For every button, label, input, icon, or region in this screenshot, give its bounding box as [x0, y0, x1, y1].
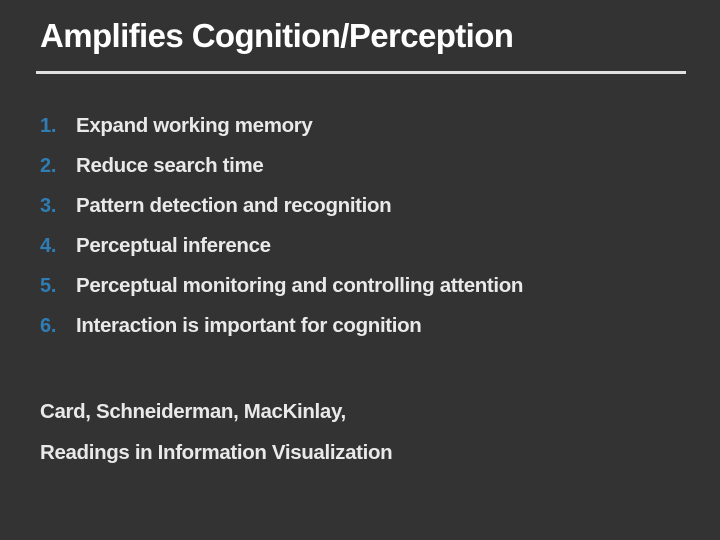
- list-item-label: Reduce search time: [76, 146, 263, 186]
- list-item: 3. Pattern detection and recognition: [40, 186, 700, 226]
- citation-block: Card, Schneiderman, MacKinlay, Readings …: [40, 391, 700, 473]
- list-item-number: 5.: [40, 266, 76, 306]
- title-divider: [36, 71, 686, 74]
- list-item-number: 1.: [40, 106, 76, 146]
- list-item-label: Interaction is important for cognition: [76, 306, 421, 346]
- list-item: 6. Interaction is important for cognitio…: [40, 306, 700, 346]
- list-item-number: 3.: [40, 186, 76, 226]
- citation-authors: Card, Schneiderman, MacKinlay,: [40, 391, 700, 432]
- numbered-list: 1. Expand working memory 2. Reduce searc…: [40, 106, 700, 346]
- list-item: 2. Reduce search time: [40, 146, 700, 186]
- list-item-number: 4.: [40, 226, 76, 266]
- list-item: 5. Perceptual monitoring and controlling…: [40, 266, 700, 306]
- list-item-label: Pattern detection and recognition: [76, 186, 391, 226]
- list-item-label: Expand working memory: [76, 106, 312, 146]
- citation-title: Readings in Information Visualization: [40, 432, 700, 473]
- list-item-label: Perceptual inference: [76, 226, 271, 266]
- list-item-number: 6.: [40, 306, 76, 346]
- slide-canvas: Amplifies Cognition/Perception 1. Expand…: [0, 0, 720, 540]
- list-item: 1. Expand working memory: [40, 106, 700, 146]
- list-item-label: Perceptual monitoring and controlling at…: [76, 266, 523, 306]
- list-item: 4. Perceptual inference: [40, 226, 700, 266]
- page-title: Amplifies Cognition/Perception: [40, 17, 690, 55]
- list-item-number: 2.: [40, 146, 76, 186]
